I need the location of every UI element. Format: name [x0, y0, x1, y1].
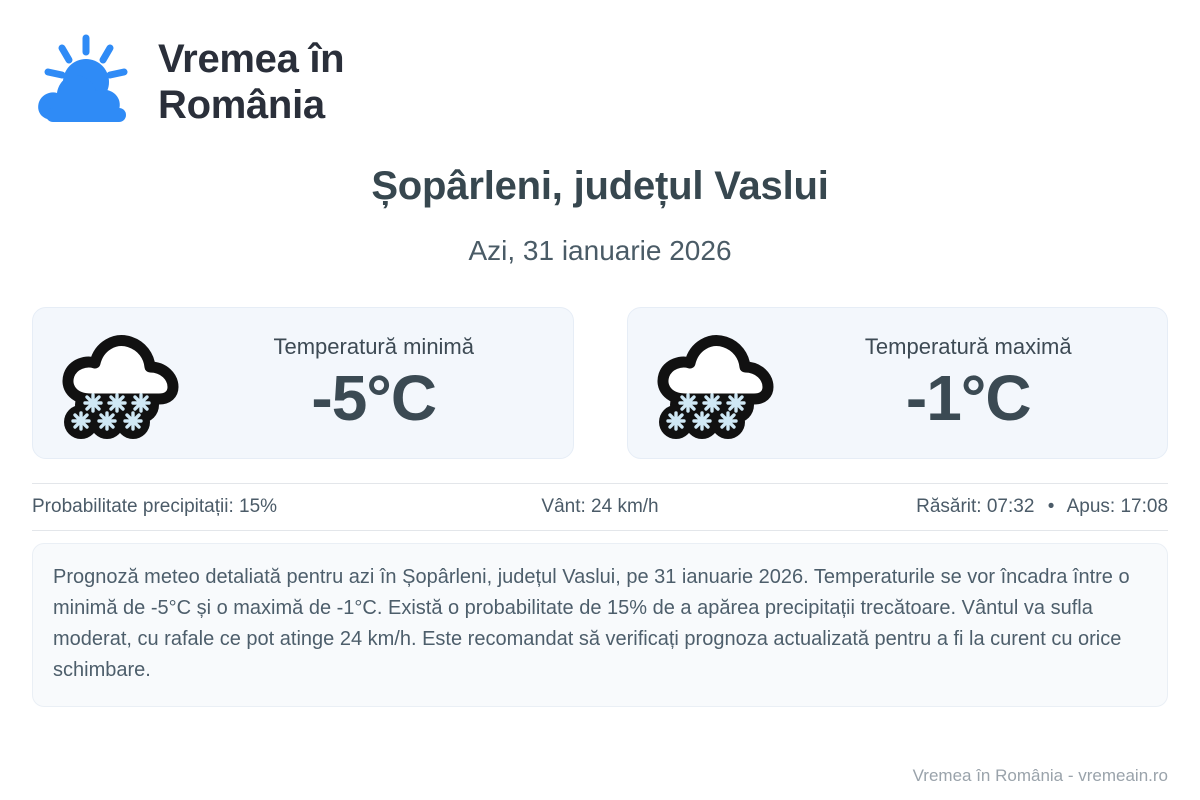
site-footer: Vremea în România - vremeain.ro [913, 766, 1168, 786]
page-subtitle: Azi, 31 ianuarie 2026 [32, 235, 1168, 267]
brand-line-1: Vremea în [158, 36, 344, 82]
max-temperature-body: Temperatură maximă -1°C [792, 333, 1146, 433]
sun-times-stat: Răsărit: 07:32 • Apus: 17:08 [789, 496, 1168, 518]
sunrise-value: Răsărit: 07:32 [916, 496, 1034, 517]
sun-behind-cloud-icon [32, 32, 140, 132]
snow-cloud-icon [55, 327, 183, 439]
snow-cloud-icon [650, 327, 778, 439]
temperature-cards: Temperatură minimă -5°C [32, 307, 1168, 459]
stats-row: Probabilitate precipitații: 15% Vânt: 24… [32, 484, 1168, 530]
min-temperature-card: Temperatură minimă -5°C [32, 307, 574, 459]
page-title: Șopârleni, județul Vaslui [32, 164, 1168, 209]
min-temperature-value: -5°C [311, 363, 436, 433]
precipitation-stat: Probabilitate precipitații: 15% [32, 496, 411, 518]
forecast-description: Prognoză meteo detaliată pentru azi în Ș… [32, 543, 1168, 707]
wind-stat: Vânt: 24 km/h [411, 496, 790, 518]
sunset-value: Apus: 17:08 [1067, 496, 1168, 517]
max-temperature-card: Temperatură maximă -1°C [627, 307, 1169, 459]
divider-bottom [32, 530, 1168, 531]
site-header: Vremea în România [32, 0, 1168, 116]
min-temperature-body: Temperatură minimă -5°C [197, 333, 551, 433]
brand-name: Vremea în România [158, 36, 344, 128]
sun-separator: • [1048, 496, 1055, 518]
brand-line-2: România [158, 82, 344, 128]
weather-page: Vremea în România Șopârleni, județul Vas… [0, 0, 1200, 800]
max-temperature-value: -1°C [906, 363, 1031, 433]
max-temperature-label: Temperatură maximă [865, 333, 1072, 361]
min-temperature-label: Temperatură minimă [273, 333, 474, 361]
